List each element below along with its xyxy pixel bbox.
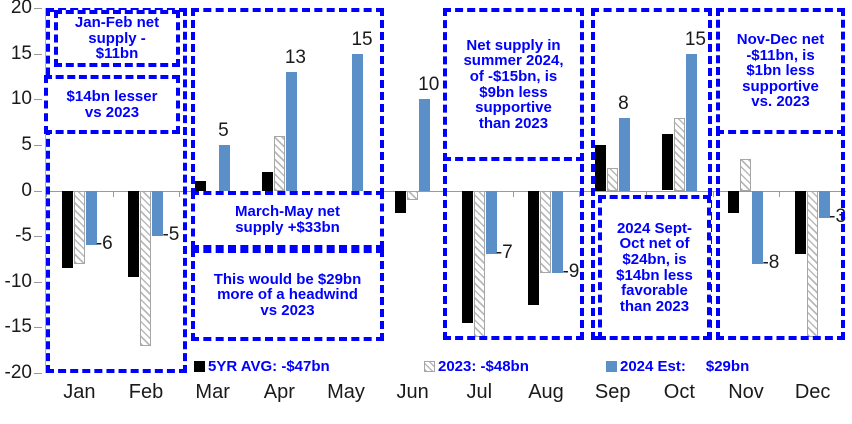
bar-feb-avg — [128, 191, 139, 278]
annotation-line: than 2023 — [616, 299, 693, 315]
y-axis-tick-mark — [34, 8, 42, 9]
y-axis-tick-label: 10 — [11, 88, 32, 110]
data-label-apr: 13 — [285, 47, 306, 69]
y-axis-tick-label: -10 — [5, 271, 32, 293]
annotation-line: 2024 Sept- — [616, 221, 693, 237]
x-axis-month-labels: JanFebMarAprMayJunJulAugSepOctNovDec — [46, 381, 846, 411]
y-axis-tick-label: -5 — [15, 225, 32, 247]
legend-item-y2023[interactable]: 2023: -$48bn — [424, 358, 529, 375]
data-label-feb: -5 — [162, 224, 179, 246]
bar-aug-avg — [528, 191, 539, 305]
bar-mar-avg — [195, 181, 206, 190]
bar-oct-avg — [662, 134, 673, 191]
bar-jun-2024 — [419, 99, 430, 190]
x-axis-label-may: May — [327, 381, 365, 404]
x-axis-tick-mark — [513, 191, 514, 197]
bar-dec-2023 — [807, 191, 818, 337]
annotation-text: Nov-Dec net-$11bn, is$1bn lesssupportive… — [737, 32, 825, 110]
annotation-line: This would be $29bn — [214, 272, 362, 288]
bar-sep-avg — [595, 145, 606, 191]
annotation-line: Oct net of — [616, 236, 693, 252]
y-axis-tick-label: 5 — [21, 134, 32, 156]
legend-label: 2023: -$48bn — [438, 358, 529, 375]
x-axis-tick-mark — [779, 191, 780, 197]
y-axis-tick-label: -20 — [5, 362, 32, 384]
annotation-line: Jan-Feb net — [75, 15, 159, 31]
x-axis-label-jul: Jul — [467, 381, 493, 404]
annotation-line: March-May net — [235, 204, 340, 220]
x-axis-tick-mark — [46, 191, 47, 197]
annotation-line: favorable — [616, 283, 693, 299]
bar-apr-2023 — [274, 136, 285, 191]
legend-item-y2024[interactable]: 2024 Est:$29bn — [606, 358, 749, 375]
bar-group-jun: 10 — [379, 8, 446, 373]
bar-jan-avg — [62, 191, 73, 269]
data-label-jun: 10 — [418, 74, 439, 96]
annotation-march-may-headwind: This would be $29bnmore of a headwindvs … — [191, 249, 384, 341]
annotation-nov-dec: Nov-Dec net-$11bn, is$1bn lesssupportive… — [716, 8, 845, 134]
x-axis-tick-mark — [579, 191, 580, 197]
y-axis-tick-mark — [34, 54, 42, 55]
y-axis-tick-mark — [34, 282, 42, 283]
y-axis-tick-label: 0 — [21, 180, 32, 202]
annotation-line: of -$15bn, is — [463, 69, 563, 85]
annotation-text: March-May netsupply +$33bn — [235, 204, 340, 235]
annotation-text: Jan-Feb netsupply -$11bn — [75, 15, 159, 62]
bar-oct-2023 — [674, 118, 685, 191]
y-axis-tick-label: 20 — [11, 0, 32, 19]
annotation-line: Nov-Dec net — [737, 32, 825, 48]
annotation-line: Net supply in — [463, 38, 563, 54]
bar-aug-2023 — [540, 191, 551, 273]
annotation-line: summer 2024, — [463, 53, 563, 69]
annotation-sept-oct: 2024 Sept-Oct net of$24bn, is$14bn lessf… — [598, 195, 711, 340]
data-label-dec: -3 — [829, 206, 846, 228]
data-label-jan: -6 — [96, 233, 113, 255]
annotation-line: supply - — [75, 31, 159, 47]
y-axis-tick-label: -15 — [5, 316, 32, 338]
legend-value: $29bn — [706, 358, 749, 375]
annotation-jan-feb-lesser: $14bn lesservs 2023 — [44, 75, 180, 134]
annotation-line: $14bn lesser — [67, 89, 158, 105]
data-label-nov: -8 — [762, 252, 779, 274]
x-axis-label-sep: Sep — [595, 381, 631, 404]
annotation-line: $1bn less — [737, 63, 825, 79]
bar-sep-2024 — [619, 118, 630, 191]
x-axis-tick-mark — [179, 191, 180, 197]
annotation-line: than 2023 — [463, 116, 563, 132]
bar-mar-2024 — [219, 145, 230, 191]
annotation-line: $11bn — [75, 46, 159, 62]
bar-nov-avg — [728, 191, 739, 214]
x-axis-label-apr: Apr — [264, 381, 295, 404]
annotation-march-may-net: March-May netsupply +$33bn — [191, 191, 384, 249]
bar-apr-avg — [262, 172, 273, 190]
data-label-mar: 5 — [218, 120, 229, 142]
legend-swatch-icon — [424, 361, 435, 372]
annotation-text: $14bn lesservs 2023 — [67, 89, 158, 120]
x-axis-label-jan: Jan — [63, 381, 95, 404]
annotation-line: supply +$33bn — [235, 220, 340, 236]
legend-swatch-icon — [194, 361, 205, 372]
data-label-aug: -9 — [562, 261, 579, 283]
annotation-line: -$11bn, is — [737, 48, 825, 64]
annotation-line: vs 2023 — [214, 303, 362, 319]
legend-label: 2024 Est: — [620, 358, 686, 375]
bar-dec-avg — [795, 191, 806, 255]
x-axis-label-oct: Oct — [664, 381, 695, 404]
x-axis-label-feb: Feb — [129, 381, 163, 404]
y-axis-tick-mark — [34, 327, 42, 328]
bar-jul-2023 — [474, 191, 485, 337]
bar-may-2024 — [352, 54, 363, 191]
x-axis-label-mar: Mar — [195, 381, 229, 404]
x-axis-tick-mark — [113, 191, 114, 197]
x-axis-label-jun: Jun — [397, 381, 429, 404]
annotation-line: supportive — [737, 79, 825, 95]
annotation-line: $14bn less — [616, 268, 693, 284]
annotation-text: This would be $29bnmore of a headwindvs … — [214, 272, 362, 319]
annotation-summer-supply: Net supply insummer 2024,of -$15bn, is$9… — [443, 8, 584, 161]
bar-nov-2023 — [740, 159, 751, 191]
data-label-sep: 8 — [618, 93, 629, 115]
annotation-line: supportive — [463, 100, 563, 116]
net-supply-bar-chart: 20151050-5-10-15-20 -6-55131510-7-9815-8… — [0, 0, 852, 424]
annotation-line: vs 2023 — [67, 105, 158, 121]
y-axis-tick-mark — [34, 191, 42, 192]
legend-item-avg[interactable]: 5YR AVG: -$47bn — [194, 358, 330, 375]
bar-apr-2024 — [286, 72, 297, 191]
bar-jun-2023 — [407, 191, 418, 200]
annotation-text: Net supply insummer 2024,of -$15bn, is$9… — [463, 38, 563, 132]
annotation-line: vs. 2023 — [737, 94, 825, 110]
bar-sep-2023 — [607, 168, 618, 191]
data-label-jul: -7 — [496, 242, 513, 264]
annotation-line: $9bn less — [463, 85, 563, 101]
x-axis-tick-mark — [446, 191, 447, 197]
y-axis-tick-mark — [34, 236, 42, 237]
data-label-oct: 15 — [685, 29, 706, 51]
annotation-text: 2024 Sept-Oct net of$24bn, is$14bn lessf… — [616, 221, 693, 315]
y-axis-tick-mark — [34, 373, 42, 374]
bar-jul-avg — [462, 191, 473, 323]
annotation-line: $24bn, is — [616, 252, 693, 268]
x-axis-label-aug: Aug — [528, 381, 564, 404]
data-label-may: 15 — [351, 29, 372, 51]
legend-swatch-icon — [606, 361, 617, 372]
bar-jan-2023 — [74, 191, 85, 264]
bar-oct-2024 — [686, 54, 697, 191]
legend-label: 5YR AVG: -$47bn — [208, 358, 330, 375]
y-axis-tick-mark — [34, 145, 42, 146]
y-axis-tick-mark — [34, 99, 42, 100]
y-axis-tick-label: 15 — [11, 43, 32, 65]
annotation-line: more of a headwind — [214, 287, 362, 303]
bar-jun-avg — [395, 191, 406, 214]
bar-feb-2023 — [140, 191, 151, 346]
x-axis-label-nov: Nov — [728, 381, 764, 404]
y-axis: 20151050-5-10-15-20 — [0, 0, 46, 373]
chart-legend: 5YR AVG: -$47bn2023: -$48bn2024 Est:$29b… — [46, 358, 846, 380]
x-axis-label-dec: Dec — [795, 381, 831, 404]
annotation-jan-feb-net: Jan-Feb netsupply -$11bn — [54, 10, 180, 67]
x-axis-tick-mark — [713, 191, 714, 197]
